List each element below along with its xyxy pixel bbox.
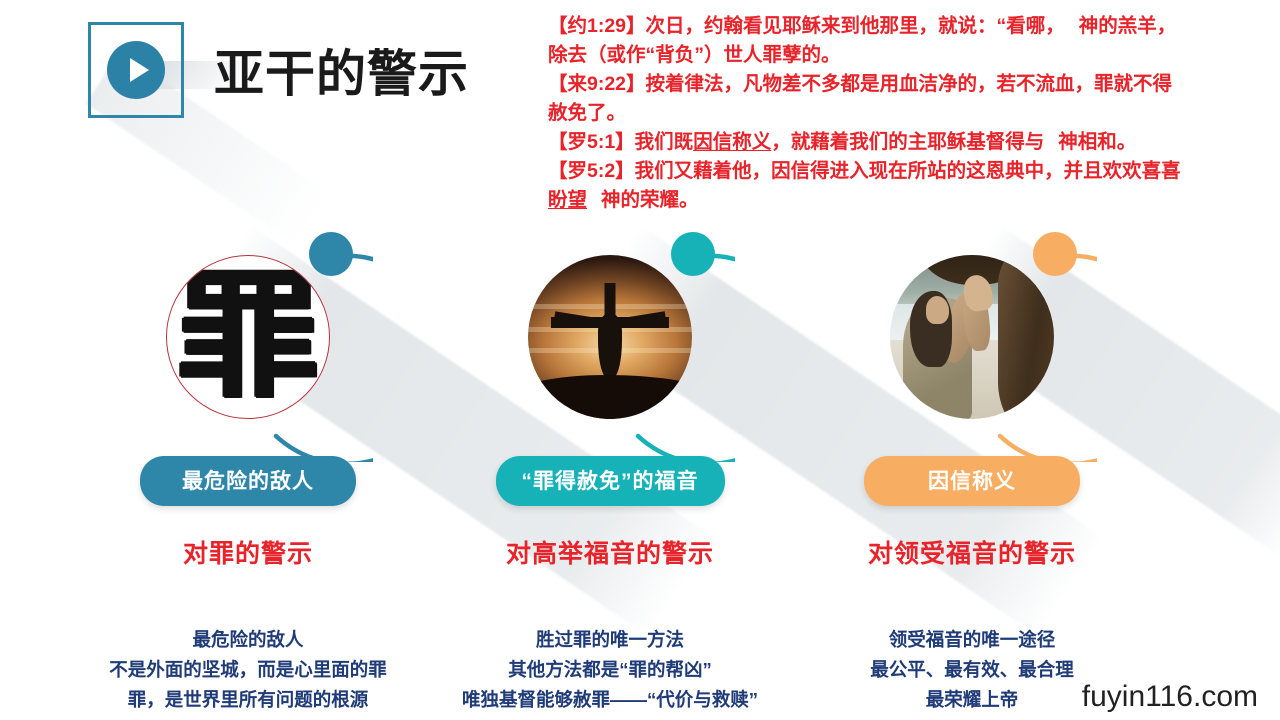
woman-face	[926, 296, 949, 324]
cave-right	[998, 255, 1054, 419]
page-title: 亚干的警示	[214, 34, 469, 106]
column-gospel: “罪得赦免”的福音 对高举福音的警示 胜过罪的唯一方法 其他方法都是“罪的帮凶”…	[434, 212, 786, 715]
ring-wrap-gospel	[485, 212, 735, 462]
ring-wrap-faith	[847, 212, 1097, 462]
body-line: 领受福音的唯一途径	[870, 625, 1074, 655]
site-watermark: fuyin116.com	[1082, 680, 1258, 714]
play-triangle	[130, 58, 149, 82]
scripture-line-1b: 神的羔羊，	[1079, 15, 1177, 37]
body-text-faith: 领受福音的唯一途径 最公平、最有效、最合理 最荣耀上帝	[870, 625, 1074, 715]
heading-gospel: 对高举福音的警示	[506, 534, 714, 570]
ground-silhouette	[528, 375, 692, 419]
scripture-line-5a: 【罗5:1】我们既	[548, 131, 693, 153]
scripture-line-7b: 神的荣耀。	[601, 189, 699, 211]
praying-woman-image	[890, 255, 1054, 419]
scripture-emphasis-yinxinchengyi: 因信称义	[693, 131, 771, 153]
three-column-layout: 罪 最危险的敌人 对罪的警示 最危险的敌人 不是外面的坚城，而是心里面的罪 罪，…	[0, 212, 1280, 715]
scripture-line-5b: ，就藉着我们的主耶稣基督得与	[771, 131, 1044, 153]
play-button-icon	[88, 22, 184, 118]
scripture-line-2: 除去（或作“背负”）世人罪孽的。	[548, 41, 1254, 70]
scripture-line-7: 盼望神的荣耀。	[548, 186, 1254, 215]
scripture-line-6: 【罗5:2】我们又藉着他，因信得进入现在所站的这恩典中，并且欢欢喜喜	[548, 157, 1254, 186]
body-line: 罪，是世界里所有问题的根源	[109, 685, 387, 715]
scripture-line-3: 【来9:22】按着律法，凡物差不多都是用血洁净的，若不流血，罪就不得	[548, 70, 1254, 99]
ring-wrap-sin: 罪	[123, 212, 373, 462]
body-line: 最危险的敌人	[109, 625, 387, 655]
body-line: 最公平、最有效、最合理	[870, 655, 1074, 685]
pill-label-sin[interactable]: 最危险的敌人	[140, 456, 356, 506]
body-text-gospel: 胜过罪的唯一方法 其他方法都是“罪的帮凶” 唯独基督能够赦罪——“代价与救赎”	[462, 625, 758, 715]
scripture-line-5c: 神相和。	[1058, 131, 1136, 153]
figure-body	[598, 316, 622, 379]
crucifixion-sunset-image	[528, 255, 692, 419]
body-line: 唯独基督能够赦罪——“代价与救赎”	[462, 685, 758, 715]
slide-header: 亚干的警示	[88, 22, 469, 118]
body-line: 不是外面的坚城，而是心里面的罪	[109, 655, 387, 685]
column-sin: 罪 最危险的敌人 对罪的警示 最危险的敌人 不是外面的坚城，而是心里面的罪 罪，…	[72, 212, 424, 715]
play-circle	[107, 41, 165, 99]
zui-calligraphy-image: 罪	[166, 255, 330, 419]
heading-faith: 对领受福音的警示	[868, 534, 1076, 570]
body-text-sin: 最危险的敌人 不是外面的坚城，而是心里面的罪 罪，是世界里所有问题的根源	[109, 625, 387, 715]
scripture-block: 【约1:29】次日，约翰看见耶稣来到他那里，就说：“看哪，神的羔羊， 除去（或作…	[548, 12, 1254, 215]
zui-glyph: 罪	[177, 279, 320, 394]
heading-sin: 对罪的警示	[183, 534, 313, 570]
scripture-emphasis-panwang: 盼望	[548, 189, 587, 211]
pill-label-faith[interactable]: 因信称义	[864, 456, 1080, 506]
column-faith: 因信称义 对领受福音的警示 领受福音的唯一途径 最公平、最有效、最合理 最荣耀上…	[796, 212, 1148, 715]
body-line: 其他方法都是“罪的帮凶”	[462, 655, 758, 685]
body-line: 最荣耀上帝	[870, 685, 1074, 715]
scripture-line-1: 【约1:29】次日，约翰看见耶稣来到他那里，就说：“看哪，神的羔羊，	[548, 12, 1254, 41]
slide-canvas: 亚干的警示 【约1:29】次日，约翰看见耶稣来到他那里，就说：“看哪，神的羔羊，…	[0, 0, 1280, 720]
pill-label-gospel[interactable]: “罪得赦免”的福音	[496, 456, 725, 506]
body-line: 胜过罪的唯一方法	[462, 625, 758, 655]
scripture-line-1a: 【约1:29】次日，约翰看见耶稣来到他那里，就说：“看哪，	[548, 15, 1065, 37]
scripture-line-5: 【罗5:1】我们既因信称义，就藉着我们的主耶稣基督得与神相和。	[548, 128, 1254, 157]
scripture-line-4: 赦免了。	[548, 99, 1254, 128]
